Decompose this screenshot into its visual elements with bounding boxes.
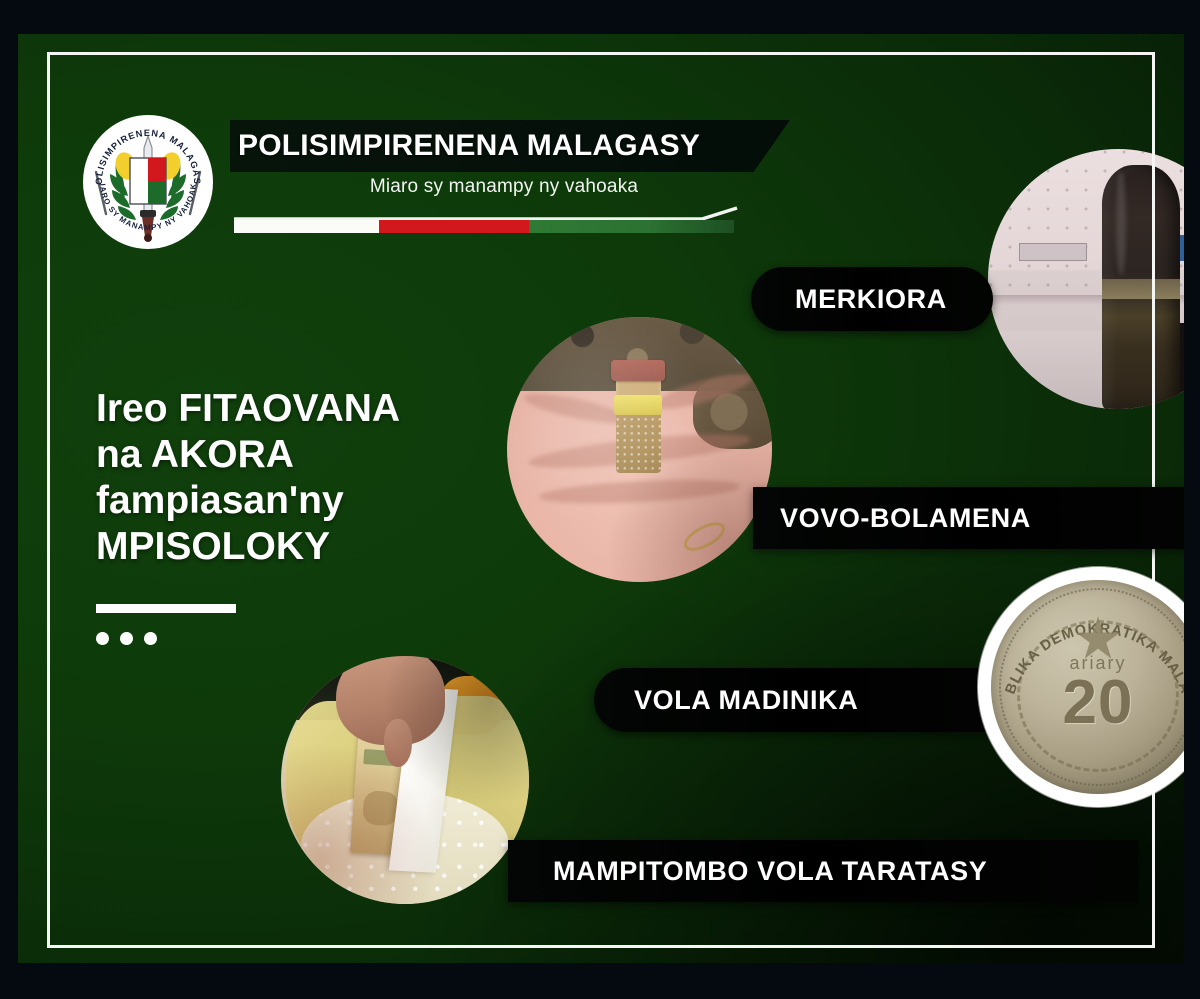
photo-vola-madinika: REPOBLIKA DEMOKRATIKA MALAGASY ariary 20 <box>978 567 1184 807</box>
bottle-band <box>1102 279 1180 299</box>
police-emblem-logo: POLISIMPIRENENA MALAGASY MIARO SY MANAMP… <box>80 114 216 250</box>
headline-line-3: fampiasan'ny <box>96 478 526 524</box>
dot-1 <box>96 632 109 645</box>
dot-2 <box>120 632 133 645</box>
flag-segment-green <box>529 220 734 233</box>
headline-line-1: Ireo FITAOVANA <box>96 386 526 432</box>
matte-bottom <box>0 963 1200 999</box>
emblem-icon: POLISIMPIRENENA MALAGASY MIARO SY MANAMP… <box>80 114 216 250</box>
photo-vovo-bolamena <box>507 317 772 582</box>
label-merkiora: MERKIORA <box>751 267 993 331</box>
poster-artboard: POLISIMPIRENENA MALAGASY MIARO SY MANAMP… <box>18 34 1184 963</box>
flag-segment-white <box>234 220 379 233</box>
label-vovo-bolamena-text: VOVO-BOLAMENA <box>780 503 1031 534</box>
headline-divider <box>96 604 236 613</box>
photo-shading <box>507 317 772 582</box>
madagascar-flag-bar <box>234 220 734 233</box>
label-mampitombo-vola-taratasy: MAMPITOMBO VOLA TARATASY <box>508 840 1138 902</box>
dot-3 <box>144 632 157 645</box>
label-vovo-bolamena: VOVO-BOLAMENA <box>753 487 1184 549</box>
headline-dots <box>96 632 157 645</box>
flag-segment-red <box>379 220 529 233</box>
headline-line-2: na AKORA <box>96 432 526 478</box>
photo-shading <box>281 656 529 904</box>
poster-canvas: POLISIMPIRENENA MALAGASY MIARO SY MANAMP… <box>0 0 1200 999</box>
label-merkiora-text: MERKIORA <box>795 284 947 315</box>
page-title: POLISIMPIRENENA MALAGASY <box>238 124 788 168</box>
coin-face: REPOBLIKA DEMOKRATIKA MALAGASY ariary 20 <box>991 580 1184 794</box>
header-tagline: Miaro sy manampy ny vahoaka <box>234 176 774 198</box>
poster-header: POLISIMPIRENENA MALAGASY MIARO SY MANAMP… <box>80 112 760 252</box>
label-vola-madinika-text: VOLA MADINIKA <box>634 685 858 716</box>
matte-right <box>1184 0 1200 999</box>
matte-top <box>0 0 1200 34</box>
headline-block: Ireo FITAOVANA na AKORA fampiasan'ny MPI… <box>96 386 526 570</box>
photo-merkiora <box>988 149 1184 409</box>
photo-mampitombo-vola-taratasy <box>281 656 529 904</box>
coin-denomination: 20 <box>991 672 1184 734</box>
headline-line-4: MPISOLOKY <box>96 524 526 570</box>
mercury-bottle <box>1102 165 1180 409</box>
label-mampitombo-text: MAMPITOMBO VOLA TARATASY <box>553 856 987 887</box>
label-vola-madinika: VOLA MADINIKA <box>594 668 1014 732</box>
bottle-highlight <box>1116 172 1125 275</box>
wall-label-1 <box>1019 243 1087 261</box>
matte-left <box>0 0 18 999</box>
